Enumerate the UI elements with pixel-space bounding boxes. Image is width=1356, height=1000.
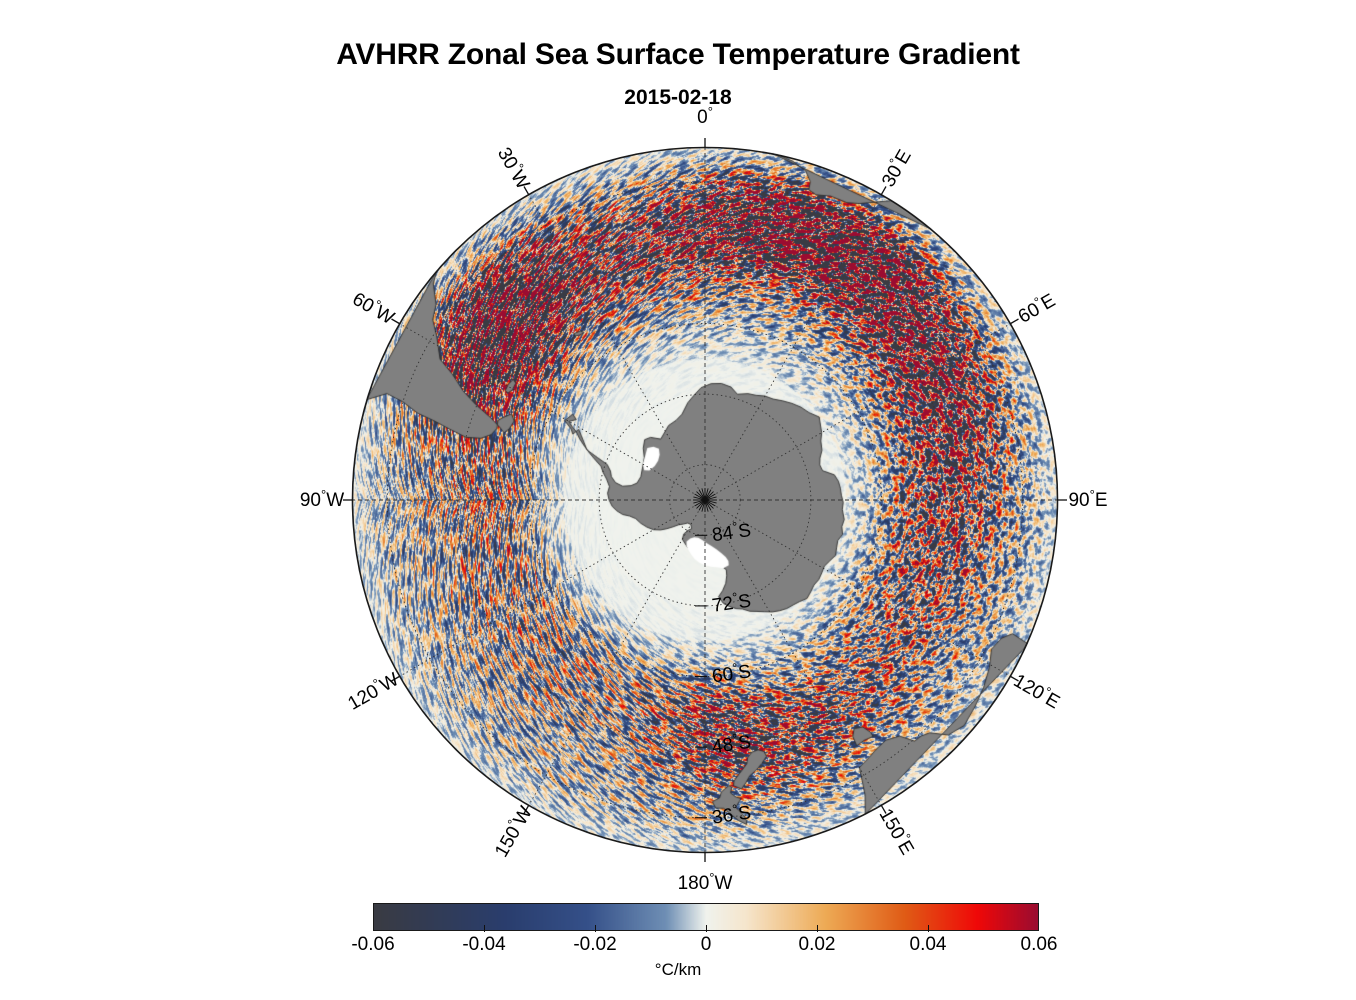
longitude-label-6: 180°W: [678, 870, 733, 895]
svg-text:180°W: 180°W: [678, 870, 733, 895]
colorbar-unit-label: °C/km: [0, 960, 1356, 980]
meridian--150: [529, 500, 706, 806]
colorbar-tick-mark: [484, 925, 485, 932]
colorbar-tick-mark: [817, 925, 818, 932]
figure-subtitle: 2015-02-18: [0, 86, 1356, 110]
meridian-30: [705, 194, 882, 500]
colorbar-tick-label: -0.04: [462, 934, 505, 956]
map-overlay: [352, 147, 1058, 853]
meridian-120: [705, 500, 1011, 677]
polar-map: [352, 147, 1058, 853]
colorbar-tick-label: -0.06: [351, 934, 394, 956]
colorbar-tick-label: 0.06: [1021, 934, 1058, 956]
longitude-label-3: 90°E: [1068, 487, 1107, 512]
colorbar-tick-label: -0.02: [573, 934, 616, 956]
figure-canvas: AVHRR Zonal Sea Surface Temperature Grad…: [0, 0, 1356, 1000]
meridian--60: [399, 324, 705, 501]
meridian-150: [705, 500, 882, 806]
svg-text:90°E: 90°E: [1068, 487, 1107, 512]
svg-text:90°W: 90°W: [300, 487, 344, 512]
meridian-60: [705, 324, 1011, 501]
colorbar-tick-label: 0.04: [910, 934, 947, 956]
page-title: AVHRR Zonal Sea Surface Temperature Grad…: [0, 38, 1356, 72]
colorbar-tick-mark: [595, 925, 596, 932]
colorbar-tick-label: 0: [701, 934, 712, 956]
colorbar-tick-label: 0.02: [799, 934, 836, 956]
meridian--30: [529, 194, 706, 500]
meridian--120: [399, 500, 705, 677]
colorbar-tick-mark: [706, 925, 707, 932]
longitude-label-9: 90°W: [300, 487, 344, 512]
colorbar-tick-mark: [928, 925, 929, 932]
